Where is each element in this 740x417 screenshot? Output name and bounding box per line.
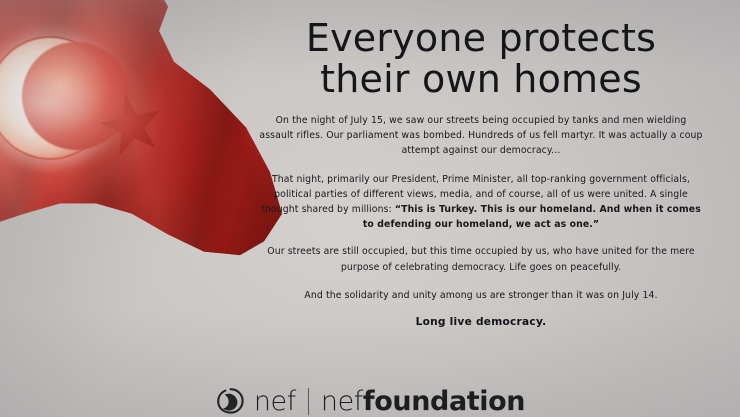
- logo-foundation-bold: foundation: [363, 386, 525, 417]
- logo-nef-foundation: neffoundation: [321, 388, 525, 415]
- poster-root: Everyone protects their own homes On the…: [0, 0, 740, 417]
- quote-this-is-turkey: “This is Turkey. This is our homeland. A…: [363, 204, 701, 230]
- headline-line-1: Everyone protects: [306, 16, 656, 60]
- paragraph-streets-occupied: Our streets are still occupied, but this…: [259, 244, 703, 274]
- logo-divider: [308, 388, 309, 415]
- message-body: On the night of July 15, we saw our stre…: [259, 100, 703, 328]
- message-column: Everyone protects their own homes On the…: [246, 0, 716, 417]
- nef-droplet-icon: [215, 387, 245, 415]
- logo-foundation-thin: nef: [321, 386, 363, 417]
- page-title: Everyone protects their own homes: [246, 0, 716, 100]
- paragraph-solidarity: And the solidarity and unity among us ar…: [259, 288, 703, 303]
- closing-statement: Long live democracy.: [259, 316, 703, 328]
- logo-lockup: nef neffoundation: [0, 387, 740, 415]
- paragraph-that-night: That night, primarily our President, Pri…: [259, 172, 703, 233]
- logo-brand-nef: nef: [254, 388, 296, 415]
- paragraph-night-of-july-15: On the night of July 15, we saw our stre…: [259, 113, 703, 159]
- headline-line-2: their own homes: [246, 59, 716, 100]
